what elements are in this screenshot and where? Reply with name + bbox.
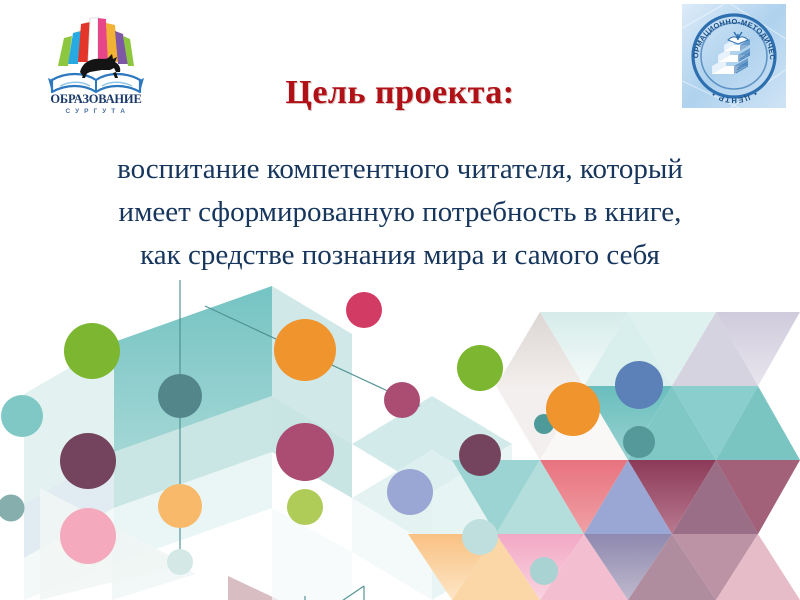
node-circle-green-light-mid — [287, 489, 323, 525]
node-circle-teal-node-bottom — [530, 557, 558, 585]
node-circle-teal-small-left — [1, 395, 43, 437]
node-circle-crimson-top — [346, 292, 382, 328]
node-circle-teal-dark-right — [623, 426, 655, 458]
node-circle-blue-right — [615, 361, 663, 409]
node-circle-green-large-right — [457, 345, 503, 391]
node-circle-periwinkle-right — [387, 469, 433, 515]
node-circle-plum-dark-left — [60, 433, 116, 489]
page-title: Цель проекта: — [0, 74, 800, 112]
node-circle-pale-teal-mid — [167, 549, 193, 575]
node-circle-orange-soft-mid — [158, 484, 202, 528]
goal-statement: воспитание компетентного читателя, котор… — [40, 148, 760, 277]
book-spines-icon — [58, 18, 134, 66]
node-circle-magenta-edge-right — [384, 382, 420, 418]
geometric-network-graphic — [0, 276, 800, 600]
node-circle-slate-node-mid — [158, 374, 202, 418]
goal-line-1: воспитание компетентного читателя, котор… — [40, 148, 760, 191]
node-circle-green-large-left — [64, 323, 120, 379]
node-circle-pink-soft-left — [60, 508, 116, 564]
node-circle-orange-large-right — [546, 382, 600, 436]
goal-line-3: как средстве познания мира и самого себя — [40, 234, 760, 277]
slide-canvas: ОБРАЗОВАНИЕ С У Р Г У Т А — [0, 0, 800, 600]
node-circle-pale-teal-right — [462, 519, 498, 555]
node-circle-magenta-plum-mid — [276, 423, 334, 481]
goal-line-2: имеет сформированную потребность в книге… — [40, 191, 760, 234]
node-circle-plum-dark-right — [459, 434, 501, 476]
node-circle-orange-large-mid — [274, 319, 336, 381]
